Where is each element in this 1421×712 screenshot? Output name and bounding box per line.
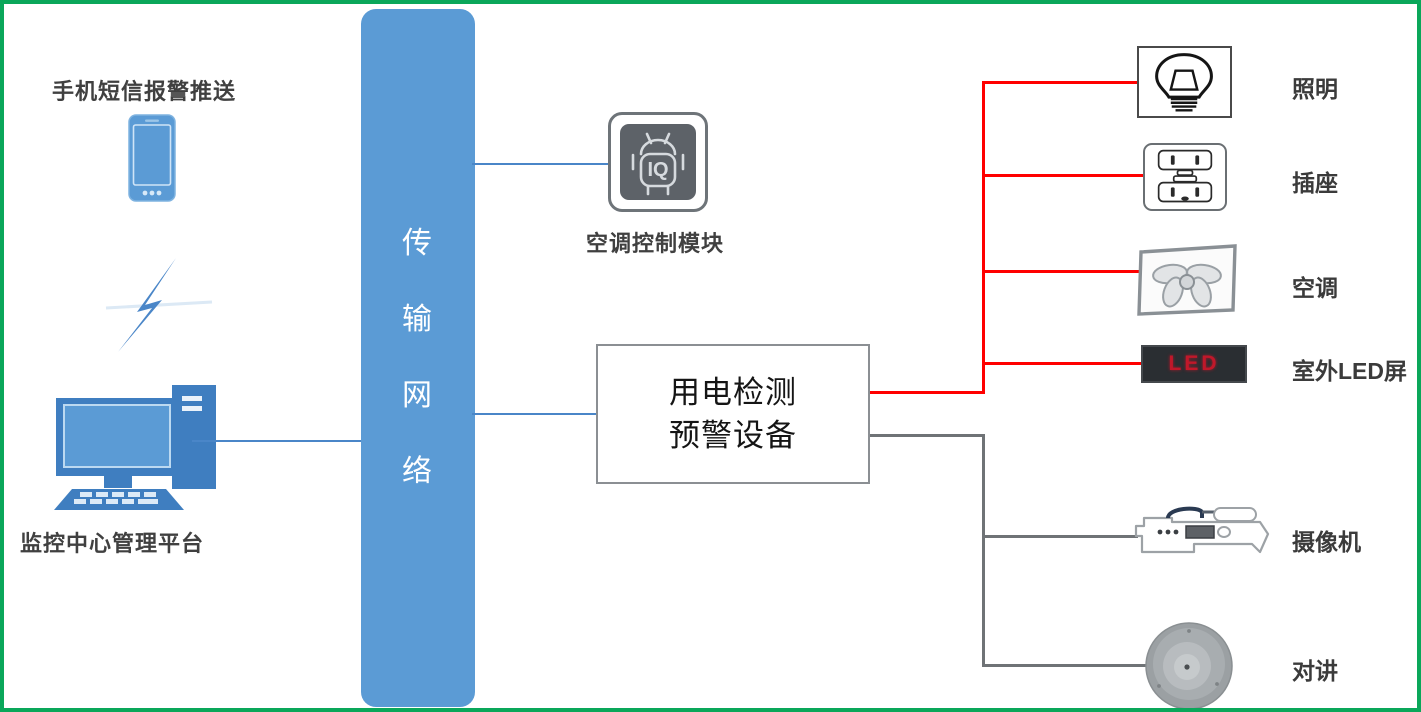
desktop-computer-icon xyxy=(44,382,224,514)
network-char-0: 传 xyxy=(362,206,474,282)
air-conditioner-fan-icon xyxy=(1135,244,1239,318)
connector-network-to-ac-module xyxy=(472,163,610,165)
device-label-camera: 摄像机 xyxy=(1292,523,1361,557)
led-screen-icon: LED xyxy=(1141,345,1247,383)
red-bus-stub xyxy=(870,391,985,394)
device-label-intercom: 对讲 xyxy=(1292,652,1338,686)
connector-pc-to-network xyxy=(192,440,364,442)
gray-bus-stub xyxy=(870,434,985,437)
diagram-canvas: 手机短信报警推送 xyxy=(0,0,1421,712)
ac-control-module-label: 空调控制模块 xyxy=(586,226,724,258)
device-label-outdoor-led: 室外LED屏 xyxy=(1292,352,1407,386)
mobile-phone-icon xyxy=(128,114,176,202)
gray-branch-intercom xyxy=(982,664,1147,667)
intercom-dome-icon xyxy=(1143,620,1235,712)
red-branch-lighting xyxy=(982,81,1140,84)
red-branch-led xyxy=(982,362,1143,365)
lightning-bolt-icon xyxy=(104,256,214,356)
red-bus-vertical xyxy=(982,81,985,394)
sms-alarm-label: 手机短信报警推送 xyxy=(52,74,236,106)
network-char-3: 络 xyxy=(362,434,474,510)
power-outlet-icon xyxy=(1143,143,1227,211)
red-branch-socket xyxy=(982,174,1145,177)
power-detection-alarm-device: 用电检测 预警设备 xyxy=(596,344,870,484)
ac-control-module-icon: IQ xyxy=(608,112,708,212)
gray-bus-vertical xyxy=(982,434,985,667)
svg-text:IQ: IQ xyxy=(647,159,668,181)
red-branch-ac xyxy=(982,270,1139,273)
device-label-lighting: 照明 xyxy=(1292,70,1338,104)
network-char-2: 网 xyxy=(362,358,474,434)
led-screen-text: LED xyxy=(1169,352,1220,376)
monitoring-center-label: 监控中心管理平台 xyxy=(20,526,204,558)
network-char-1: 输 xyxy=(362,282,474,358)
detector-line-1: 用电检测 xyxy=(669,371,797,414)
detector-line-2: 预警设备 xyxy=(669,414,797,457)
device-label-air-conditioner: 空调 xyxy=(1292,269,1338,303)
gray-branch-camera xyxy=(982,535,1138,538)
device-label-socket: 插座 xyxy=(1292,164,1338,198)
light-bulb-icon xyxy=(1137,46,1232,118)
connector-network-to-detector xyxy=(472,413,598,415)
transmission-network-label: 传 输 网 络 xyxy=(362,206,474,510)
transmission-network-bar: 传 输 网 络 xyxy=(362,10,474,706)
video-camera-icon xyxy=(1132,504,1272,566)
